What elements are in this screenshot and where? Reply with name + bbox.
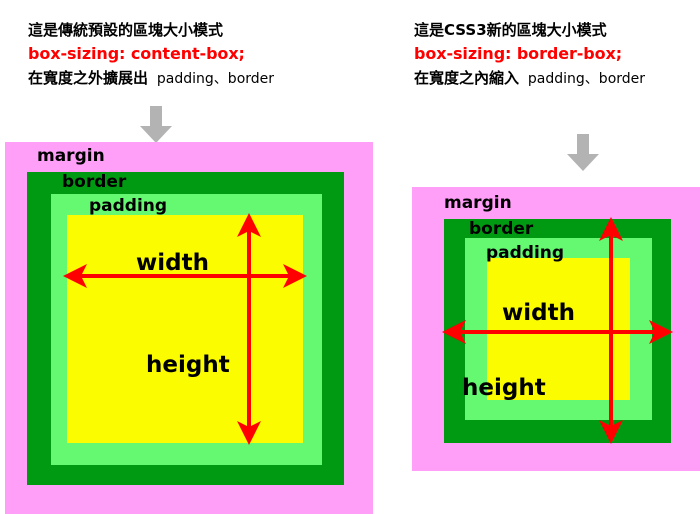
height-label: height (146, 354, 230, 377)
caption-left-line3-latin: padding、border (157, 71, 274, 87)
arrow-down-icon (138, 106, 174, 144)
dimension-arrows (5, 142, 373, 514)
caption-left-line3-cjk: 在寬度之外擴展出 (28, 69, 148, 87)
box-model-diagram-content-box: margin border padding width height (5, 142, 373, 514)
caption-left-line1: 這是傳統預設的區塊大小模式 (28, 18, 274, 42)
caption-left-line3: 在寬度之外擴展出 padding、border (28, 66, 274, 91)
box-model-diagram-border-box: margin border padding width height (412, 187, 700, 471)
diagram-canvas: 這是傳統預設的區塊大小模式 box-sizing: content-box; 在… (0, 0, 700, 514)
caption-left-code: box-sizing: content-box; (28, 42, 274, 66)
height-arrow-icon (237, 213, 261, 445)
height-label: height (462, 377, 546, 400)
width-label: width (136, 252, 209, 275)
dimension-arrows (412, 187, 700, 471)
caption-right-line3-cjk: 在寬度之內縮入 (414, 69, 519, 87)
caption-content-box: 這是傳統預設的區塊大小模式 box-sizing: content-box; 在… (28, 18, 274, 91)
caption-right-code: box-sizing: border-box; (414, 42, 645, 66)
caption-right-line3: 在寬度之內縮入 padding、border (414, 66, 645, 91)
caption-border-box: 這是CSS3新的區塊大小模式 box-sizing: border-box; 在… (414, 18, 645, 91)
width-label: width (502, 302, 575, 325)
caption-right-line1: 這是CSS3新的區塊大小模式 (414, 18, 645, 42)
caption-right-line3-latin: padding、border (528, 71, 645, 87)
arrow-down-icon (565, 134, 601, 172)
